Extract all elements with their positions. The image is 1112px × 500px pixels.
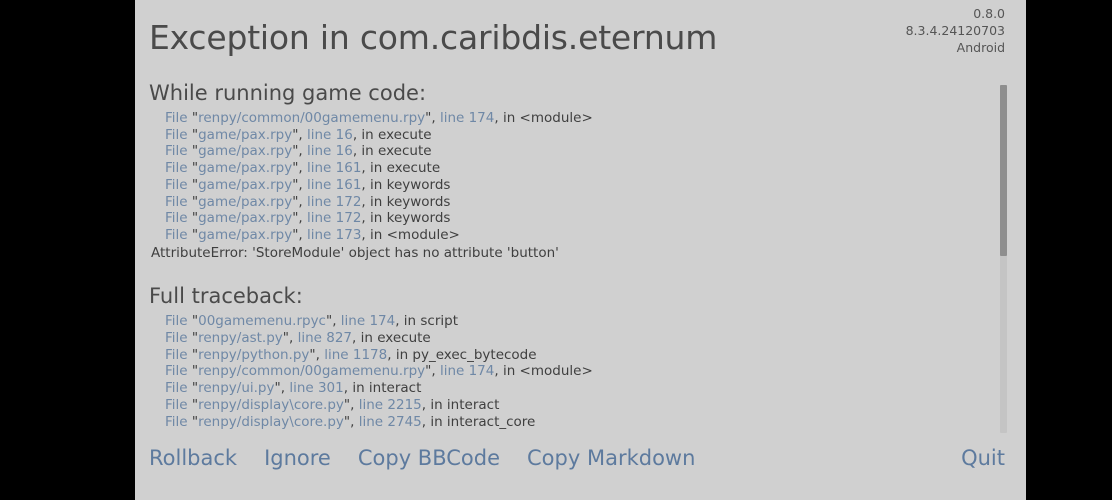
traceback-line: File "game/pax.rpy", line 16, in execute [165,143,995,160]
rollback-button[interactable]: Rollback [149,444,237,472]
traceback-line-number: line 161 [307,177,361,193]
traceback-file-path: game/pax.rpy [198,227,292,243]
traceback-line: File "game/pax.rpy", line 161, in keywor… [165,177,995,194]
ignore-button[interactable]: Ignore [264,444,331,472]
traceback-file-keyword: File [165,330,192,346]
traceback-file-keyword: File [165,430,192,432]
traceback-separator: , [350,397,359,413]
copy-bbcode-button[interactable]: Copy BBCode [358,444,500,472]
traceback-line: File "renpy/ast.py", line 827, in execut… [165,330,995,347]
section-spacer [135,261,995,283]
traceback-separator: , [298,194,307,210]
scrollbar-track[interactable] [1000,85,1007,433]
traceback-line: File "renpy/common/00gamemenu.rpy", line… [165,363,995,380]
traceback-line: File "renpy/display\core.py", line 2745,… [165,414,995,431]
traceback-context: , in interact_core [422,414,536,430]
traceback-file-path: renpy/common/00gamemenu.rpy [198,363,425,379]
traceback-line-number: line 2745 [359,414,422,430]
traceback-section: Full traceback:File "00gamemenu.rpyc", l… [135,283,995,432]
traceback-separator: , [298,177,307,193]
traceback-file-path: renpy/common/00gamemenu.rpy [198,110,425,126]
quit-button[interactable]: Quit [961,444,1005,472]
traceback-file-keyword: File [165,363,192,379]
traceback-context: , in keywords [361,194,450,210]
traceback-line: File "game/pax.rpy", line 172, in keywor… [165,210,995,227]
traceback-context: , in execute [353,143,432,159]
traceback-file-path: 00gamemenu.rpyc [198,313,326,329]
traceback-line: File "renpy/ui.py", line 301, in interac… [165,380,995,397]
traceback-line: File "00gamemenu.rpyc", line 174, in scr… [165,313,995,330]
traceback-separator: , [298,127,307,143]
traceback-scroll-area[interactable]: While running game code:File "renpy/comm… [135,80,1026,432]
traceback-line: File "renpy/display\core.py", line 4344,… [165,430,995,432]
exception-window: Exception in com.caribdis.eternum 0.8.0 … [135,0,1026,500]
traceback-separator: , [316,347,325,363]
traceback-file-path: game/pax.rpy [198,127,292,143]
traceback-context: , in execute [352,330,431,346]
traceback-context: , in interact [422,397,500,413]
traceback-line-number: line 16 [307,143,353,159]
traceback-context: , in keywords [361,210,450,226]
traceback-file-keyword: File [165,194,192,210]
traceback-file-path: renpy/display\core.py [198,397,344,413]
traceback-line-number: line 16 [307,127,353,143]
traceback-context: , in execute [361,160,440,176]
traceback-context: , in interact [344,380,422,396]
traceback-context: , in <module> [361,227,459,243]
traceback-line: File "game/pax.rpy", line 16, in execute [165,127,995,144]
traceback-separator: , [431,363,440,379]
traceback-file-keyword: File [165,227,192,243]
traceback-line: File "renpy/common/00gamemenu.rpy", line… [165,110,995,127]
traceback-line-number: line 1178 [324,347,387,363]
traceback-separator: , [298,143,307,159]
traceback-section: While running game code:File "renpy/comm… [135,80,995,261]
traceback-line: File "game/pax.rpy", line 172, in keywor… [165,194,995,211]
traceback-file-keyword: File [165,110,192,126]
traceback-line: File "renpy/display\core.py", line 2215,… [165,397,995,414]
traceback-file-path: game/pax.rpy [198,160,292,176]
traceback-file-path: renpy/ui.py [198,380,274,396]
traceback-line: File "game/pax.rpy", line 161, in execut… [165,160,995,177]
page-title: Exception in com.caribdis.eternum [149,18,717,57]
primary-actions: RollbackIgnoreCopy BBCodeCopy Markdown [149,444,695,472]
traceback-context: , in script [395,313,458,329]
traceback-separator: , [350,414,359,430]
traceback-line: File "game/pax.rpy", line 173, in <modul… [165,227,995,244]
traceback-separator: , [350,430,359,432]
traceback-file-path: renpy/python.py [198,347,309,363]
traceback-separator: , [289,330,298,346]
traceback-context: , in execute [353,127,432,143]
traceback-context: , in <module> [494,363,592,379]
traceback-file-keyword: File [165,397,192,413]
traceback-line-number: line 172 [307,194,361,210]
traceback-file-path: renpy/ast.py [198,330,283,346]
traceback-content: While running game code:File "renpy/comm… [135,80,995,432]
traceback-context: , in visit_all [422,430,498,432]
action-button-bar: RollbackIgnoreCopy BBCodeCopy Markdown Q… [135,438,1026,500]
traceback-separator: , [431,110,440,126]
traceback-line-number: line 161 [307,160,361,176]
traceback-line-number: line 2215 [359,397,422,413]
traceback-line-number: line 174 [440,363,494,379]
traceback-line-number: line 4344 [359,430,422,432]
traceback-file-keyword: File [165,210,192,226]
traceback-line-number: line 301 [289,380,343,396]
traceback-line-number: line 827 [298,330,352,346]
traceback-separator: , [332,313,341,329]
exception-message: AttributeError: 'StoreModule' object has… [151,245,995,262]
traceback-file-keyword: File [165,347,192,363]
traceback-context: , in keywords [361,177,450,193]
traceback-separator: , [298,227,307,243]
traceback-file-path: game/pax.rpy [198,194,292,210]
version-info: 0.8.0 8.3.4.24120703 Android [906,5,1005,56]
traceback-line-number: line 174 [341,313,395,329]
traceback-separator: , [298,210,307,226]
section-heading: While running game code: [149,80,995,106]
traceback-line-number: line 173 [307,227,361,243]
traceback-file-path: game/pax.rpy [198,177,292,193]
version-platform: Android [906,39,1005,56]
traceback-file-path: game/pax.rpy [198,143,292,159]
app-screen: Exception in com.caribdis.eternum 0.8.0 … [0,0,1112,500]
section-heading: Full traceback: [149,283,995,309]
version-engine: 8.3.4.24120703 [906,22,1005,39]
version-app: 0.8.0 [906,5,1005,22]
traceback-file-keyword: File [165,143,192,159]
traceback-file-path: renpy/display\core.py [198,414,344,430]
copy-markdown-button[interactable]: Copy Markdown [527,444,695,472]
scrollbar-thumb[interactable] [1000,85,1007,256]
traceback-context: , in <module> [494,110,592,126]
traceback-line-number: line 174 [440,110,494,126]
traceback-file-keyword: File [165,127,192,143]
window-header: Exception in com.caribdis.eternum 0.8.0 … [135,0,1026,78]
traceback-file-keyword: File [165,414,192,430]
traceback-file-keyword: File [165,177,192,193]
traceback-file-keyword: File [165,313,192,329]
secondary-actions: Quit [961,444,1005,472]
traceback-line: File "renpy/python.py", line 1178, in py… [165,347,995,364]
traceback-context: , in py_exec_bytecode [387,347,536,363]
traceback-line-number: line 172 [307,210,361,226]
traceback-file-keyword: File [165,160,192,176]
traceback-file-path: game/pax.rpy [198,210,292,226]
traceback-file-path: renpy/display\core.py [198,430,344,432]
traceback-file-keyword: File [165,380,192,396]
traceback-separator: , [298,160,307,176]
